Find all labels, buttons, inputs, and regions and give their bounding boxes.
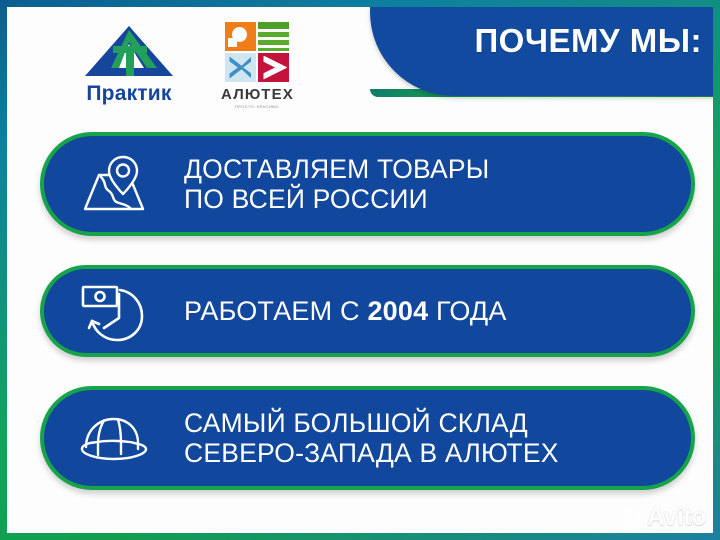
feature-text-delivery: ДОСТАВЛЯЕМ ТОВАРЫ ПО ВСЕЙ РОССИИ bbox=[184, 154, 489, 214]
promo-banner: ПОЧЕМУ МЫ: Практик bbox=[0, 0, 720, 540]
header-panel: ПОЧЕМУ МЫ: bbox=[370, 7, 713, 96]
page-title: ПОЧЕМУ МЫ: bbox=[370, 22, 702, 60]
money-clock-icon bbox=[44, 280, 184, 342]
feature-pill-delivery: ДОСТАВЛЯЕМ ТОВАРЫ ПО ВСЕЙ РОССИИ bbox=[40, 132, 695, 236]
feature-pill-since-2004: РАБОТАЕМ С 2004 ГОДА bbox=[40, 265, 695, 357]
logo-row: Практик АЛЮТЕХ ПРОСТО. КРАСИВО. bbox=[7, 15, 370, 115]
feature-text-suffix: ГОДА bbox=[428, 296, 506, 326]
praktik-logo: Практик bbox=[83, 24, 175, 106]
map-location-pin-icon bbox=[44, 153, 184, 215]
four-square-grid-logo-icon bbox=[225, 22, 289, 82]
logo-cell-red bbox=[258, 53, 289, 82]
avito-label: Avito bbox=[647, 503, 706, 532]
alutech-tagline: ПРОСТО. КРАСИВО. bbox=[235, 104, 280, 109]
alutech-wordmark: АЛЮТЕХ bbox=[221, 86, 294, 103]
alutech-logo: АЛЮТЕХ ПРОСТО. КРАСИВО. bbox=[221, 22, 294, 109]
mountain-triangle-logo-icon bbox=[83, 24, 175, 80]
hard-hat-icon bbox=[44, 409, 184, 467]
feature-text-warehouse: САМЫЙ БОЛЬШОЙ СКЛАД СЕВЕРО-ЗАПАДА В АЛЮТ… bbox=[184, 408, 559, 468]
feature-text-prefix: РАБОТАЕМ С bbox=[184, 296, 367, 326]
logo-cell-green bbox=[258, 22, 289, 51]
logo-cell-orange bbox=[225, 22, 256, 51]
banner-card: ПОЧЕМУ МЫ: Практик bbox=[7, 7, 713, 533]
logo-cell-blue bbox=[225, 53, 256, 82]
feature-year-value: 2004 bbox=[367, 296, 428, 326]
praktik-wordmark: Практик bbox=[86, 82, 171, 106]
avito-watermark: Avito bbox=[622, 503, 706, 532]
feature-pill-warehouse: САМЫЙ БОЛЬШОЙ СКЛАД СЕВЕРО-ЗАПАДА В АЛЮТ… bbox=[40, 386, 695, 490]
feature-text-since-2004: РАБОТАЕМ С 2004 ГОДА bbox=[184, 296, 507, 327]
avito-dots-icon bbox=[622, 507, 644, 529]
